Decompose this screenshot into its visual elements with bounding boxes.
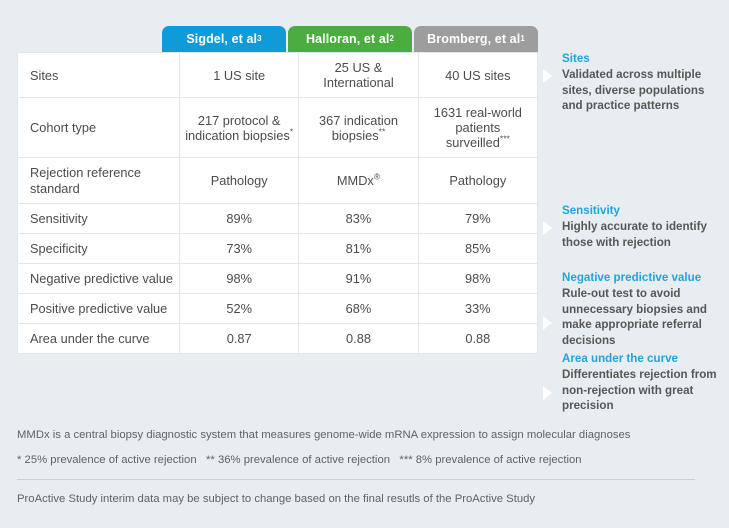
row-label: Negative predictive value — [18, 263, 180, 293]
row-label: Positive predictive value — [18, 293, 180, 323]
callout-negative-predictive-value: Negative predictive value Rule-out test … — [562, 270, 720, 348]
cell-text: MMDx — [337, 173, 374, 188]
table-cell: 89% — [180, 203, 299, 233]
row-label: Rejection reference standard — [18, 158, 180, 203]
cell-text: 89% — [226, 211, 252, 226]
cell-text: 98% — [226, 271, 252, 286]
cell-text: 33% — [465, 301, 491, 316]
column-header-sigdel: Sigdel, et al3 — [162, 26, 286, 52]
cell-text: Pathology — [211, 173, 268, 188]
callout-title: Negative predictive value — [562, 270, 720, 285]
table-cell: MMDx® — [299, 158, 418, 203]
cell-superscript: ® — [374, 172, 380, 182]
callout-sensitivity: Sensitivity Highly accurate to identify … — [562, 203, 720, 250]
table-row: Sensitivity 89% 83% 79% — [18, 203, 538, 233]
callout-body: Rule-out test to avoid unnecessary biops… — [562, 286, 720, 348]
table-row: Rejection reference standard Pathology M… — [18, 158, 538, 203]
table-cell: 1631 real-world patients surveilled*** — [418, 98, 537, 158]
table-cell: 85% — [418, 233, 537, 263]
table-cell: 83% — [299, 203, 418, 233]
footnote-prevalence: * 25% prevalence of active rejection ** … — [17, 453, 712, 467]
cell-superscript: ** — [379, 127, 386, 137]
row-label: Cohort type — [18, 98, 180, 158]
table-cell: 98% — [180, 263, 299, 293]
table-cell: 367 indication biopsies** — [299, 98, 418, 158]
table-cell: 40 US sites — [418, 53, 537, 98]
cell-text: 0.87 — [227, 331, 252, 346]
triangle-right-icon — [543, 69, 552, 83]
callout-title: Sensitivity — [562, 203, 720, 218]
table-cell: 0.88 — [418, 324, 537, 354]
cell-text: 91% — [346, 271, 372, 286]
callout-body: Validated across multiple sites, diverse… — [562, 67, 720, 114]
callout-sites: Sites Validated across multiple sites, d… — [562, 51, 720, 114]
table-cell: 0.88 — [299, 324, 418, 354]
table-cell: 98% — [418, 263, 537, 293]
table-row: Cohort type 217 protocol & indication bi… — [18, 98, 538, 158]
table-header-row: Sigdel, et al3 Halloran, et al2 Bromberg… — [17, 26, 538, 52]
table-cell: 79% — [418, 203, 537, 233]
cell-text: 25 US & International — [323, 60, 393, 90]
cell-superscript: *** — [500, 134, 510, 144]
cell-text: 0.88 — [465, 331, 490, 346]
cell-text: 83% — [346, 211, 372, 226]
table-cell: 73% — [180, 233, 299, 263]
triangle-right-icon — [543, 221, 552, 235]
cell-text: Pathology — [449, 173, 506, 188]
table-cell: 91% — [299, 263, 418, 293]
table-cell: 25 US & International — [299, 53, 418, 98]
table-cell: 33% — [418, 293, 537, 323]
table-row: Area under the curve 0.87 0.88 0.88 — [18, 324, 538, 354]
table-row: Sites 1 US site 25 US & International 40… — [18, 53, 538, 98]
footnote-mmdx-definition: MMDx is a central biopsy diagnostic syst… — [17, 428, 712, 442]
table-cell: 1 US site — [180, 53, 299, 98]
table-row: Positive predictive value 52% 68% 33% — [18, 293, 538, 323]
cell-superscript: * — [290, 127, 293, 137]
footnotes-section: MMDx is a central biopsy diagnostic syst… — [17, 428, 712, 506]
cell-text: 68% — [346, 301, 372, 316]
row-label: Area under the curve — [18, 324, 180, 354]
column-header-label: Halloran, et al — [306, 32, 389, 46]
table-cell: 68% — [299, 293, 418, 323]
row-label: Specificity — [18, 233, 180, 263]
cell-text: 79% — [465, 211, 491, 226]
cell-text: 40 US sites — [445, 68, 510, 83]
cell-text: 1 US site — [213, 68, 265, 83]
table-cell: 217 protocol & indication biopsies* — [180, 98, 299, 158]
row-label: Sensitivity — [18, 203, 180, 233]
table-cell: 52% — [180, 293, 299, 323]
callout-title: Sites — [562, 51, 720, 66]
comparison-table-container: Sigdel, et al3 Halloran, et al2 Bromberg… — [17, 26, 538, 354]
cell-text: 98% — [465, 271, 491, 286]
table-cell: Pathology — [418, 158, 537, 203]
triangle-right-icon — [543, 316, 552, 330]
footnote-divider — [17, 479, 695, 480]
footnote-proactive-disclaimer: ProActive Study interim data may be subj… — [17, 492, 712, 506]
table-row: Specificity 73% 81% 85% — [18, 233, 538, 263]
table-row: Negative predictive value 98% 91% 98% — [18, 263, 538, 293]
column-header-label: Bromberg, et al — [427, 32, 520, 46]
table-cell: 81% — [299, 233, 418, 263]
table-cell: Pathology — [180, 158, 299, 203]
table-body: Sites 1 US site 25 US & International 40… — [18, 53, 538, 354]
cell-text: 85% — [465, 241, 491, 256]
callout-area-under-the-curve: Area under the curve Differentiates reje… — [562, 351, 720, 414]
comparison-table: Sites 1 US site 25 US & International 40… — [17, 52, 538, 354]
cell-text: 52% — [226, 301, 252, 316]
cell-text: 217 protocol & indication biopsies — [185, 113, 290, 143]
callout-body: Differentiates rejection from non-reject… — [562, 367, 720, 414]
cell-text: 0.88 — [346, 331, 371, 346]
cell-text: 81% — [346, 241, 372, 256]
column-header-label: Sigdel, et al — [186, 32, 257, 46]
column-header-halloran: Halloran, et al2 — [288, 26, 412, 52]
triangle-right-icon — [543, 386, 552, 400]
callout-panel: Sites Validated across multiple sites, d… — [540, 26, 720, 416]
callout-title: Area under the curve — [562, 351, 720, 366]
cell-text: 367 indication biopsies — [319, 113, 398, 143]
table-cell: 0.87 — [180, 324, 299, 354]
row-label: Sites — [18, 53, 180, 98]
callout-body: Highly accurate to identify those with r… — [562, 219, 720, 250]
cell-text: 73% — [226, 241, 252, 256]
column-header-bromberg: Bromberg, et al1 — [414, 26, 538, 52]
